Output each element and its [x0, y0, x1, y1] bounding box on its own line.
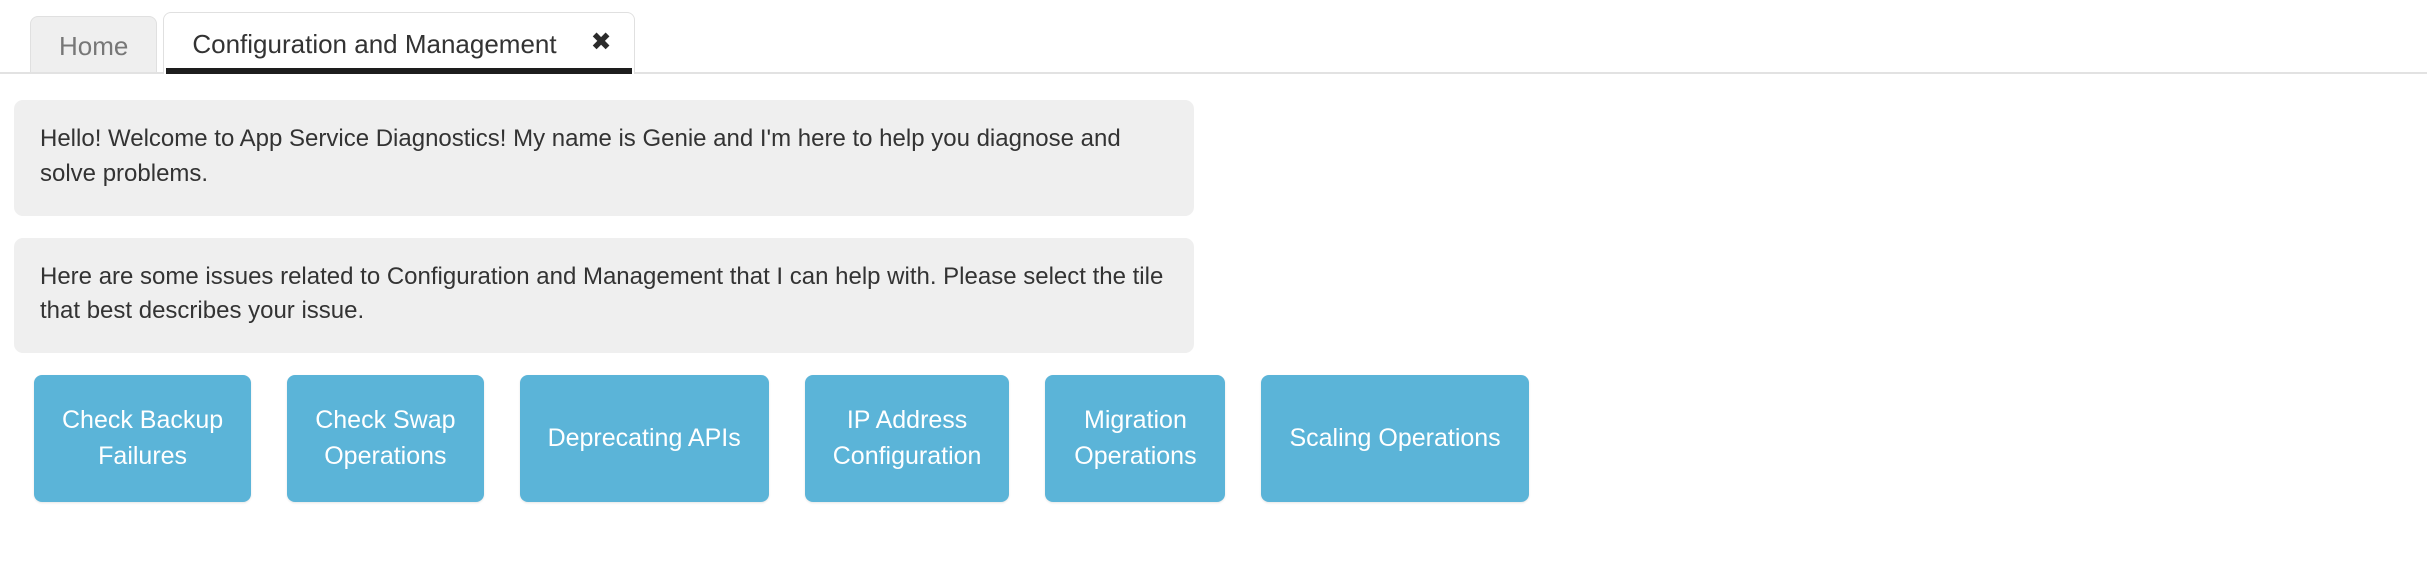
issue-tile-list: Check Backup Failures Check Swap Operati…	[0, 375, 2427, 502]
tab-home[interactable]: Home	[30, 16, 157, 74]
tile-check-swap-operations[interactable]: Check Swap Operations	[287, 375, 483, 502]
tile-deprecating-apis[interactable]: Deprecating APIs	[520, 375, 769, 502]
tab-home-label: Home	[59, 33, 128, 59]
tile-check-swap-operations-label: Check Swap Operations	[315, 403, 455, 474]
tile-check-backup-failures[interactable]: Check Backup Failures	[34, 375, 251, 502]
tile-scaling-operations[interactable]: Scaling Operations	[1261, 375, 1528, 502]
close-icon[interactable]: ✖	[591, 30, 612, 55]
tile-ip-address-configuration-label: IP Address Configuration	[833, 403, 982, 474]
tile-deprecating-apis-label: Deprecating APIs	[548, 421, 741, 457]
chat-message-welcome: Hello! Welcome to App Service Diagnostic…	[14, 100, 1194, 216]
chat-transcript: Hello! Welcome to App Service Diagnostic…	[0, 74, 2427, 353]
tab-configuration-and-management-label: Configuration and Management	[192, 31, 556, 57]
tile-migration-operations-label: Migration Operations	[1074, 403, 1196, 474]
tile-ip-address-configuration[interactable]: IP Address Configuration	[805, 375, 1010, 502]
chat-message-welcome-text: Hello! Welcome to App Service Diagnostic…	[40, 122, 1168, 192]
tile-scaling-operations-label: Scaling Operations	[1289, 421, 1500, 457]
tab-configuration-and-management[interactable]: Configuration and Management ✖	[163, 12, 634, 74]
tile-migration-operations[interactable]: Migration Operations	[1045, 375, 1225, 502]
tab-strip: Home Configuration and Management ✖	[0, 0, 2427, 74]
chat-message-prompt-text: Here are some issues related to Configur…	[40, 260, 1168, 330]
tile-check-backup-failures-label: Check Backup Failures	[62, 403, 223, 474]
chat-message-prompt: Here are some issues related to Configur…	[14, 238, 1194, 354]
